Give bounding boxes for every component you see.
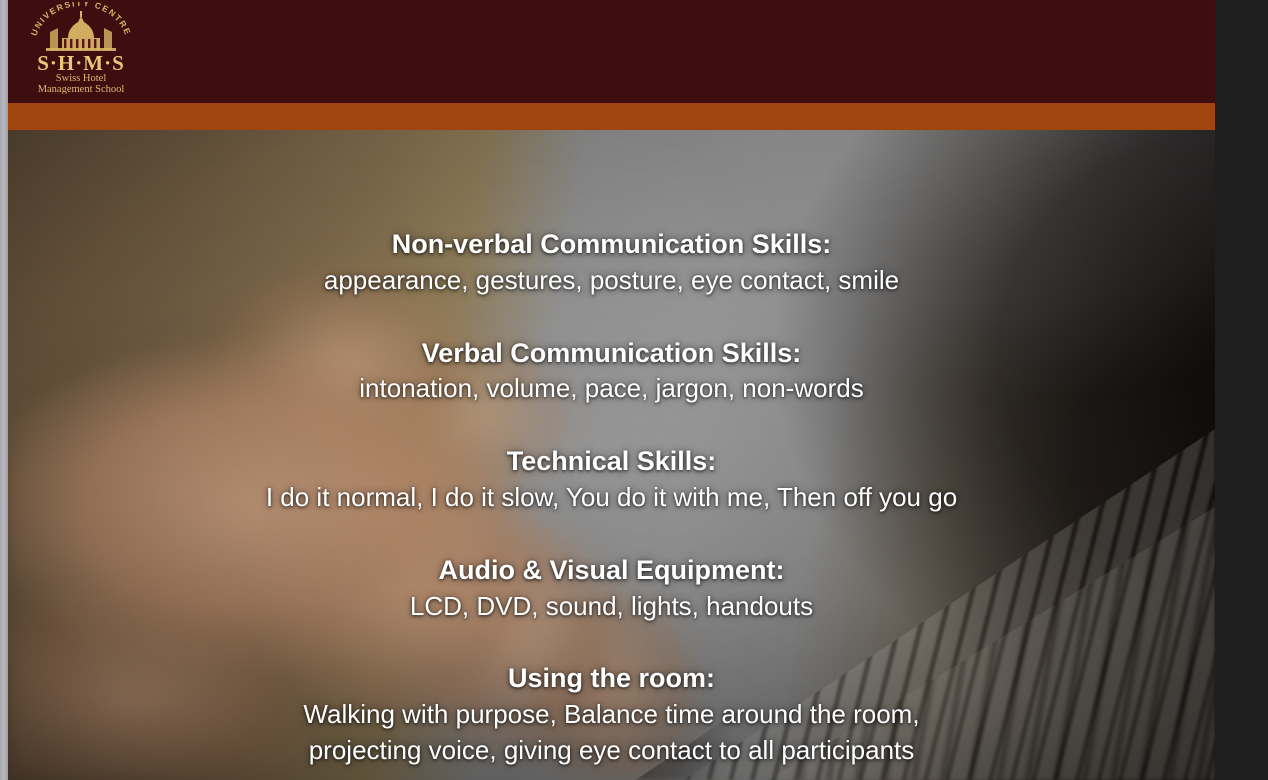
right-letterbox-gutter [1215,0,1268,780]
content-block-body: intonation, volume, pace, jargon, non-wo… [8,371,1215,407]
content-line: I do it normal, I do it slow, You do it … [8,480,1215,516]
content-line: intonation, volume, pace, jargon, non-wo… [8,371,1215,407]
logo-name-line-2: Management School [38,84,125,94]
left-edge-strip [0,0,8,780]
content-block-audio-visual: Audio & Visual Equipment: LCD, DVD, soun… [8,552,1215,625]
slide-header-accent-stripe [8,103,1215,130]
slide-header-band [8,0,1215,103]
content-block-title: Verbal Communication Skills: [8,335,1215,372]
content-block-title: Non-verbal Communication Skills: [8,226,1215,263]
content-block-title: Using the room: [8,660,1215,697]
content-block-using-the-room: Using the room: Walking with purpose, Ba… [8,660,1215,768]
content-block-verbal: Verbal Communication Skills: intonation,… [8,335,1215,408]
content-block-body: I do it normal, I do it slow, You do it … [8,480,1215,516]
logo-emblem-icon [46,11,116,51]
presentation-slide: ALWAYS PRACTICE UNIVERSITY CENTRE [8,0,1215,780]
content-block-technical: Technical Skills: I do it normal, I do i… [8,443,1215,516]
content-block-nonverbal: Non-verbal Communication Skills: appeara… [8,226,1215,299]
content-block-body: LCD, DVD, sound, lights, handouts [8,589,1215,625]
content-line: appearance, gestures, posture, eye conta… [8,263,1215,299]
shms-logo: UNIVERSITY CENTRE [22,2,140,94]
content-block-body: Walking with purpose, Balance time aroun… [8,697,1215,769]
content-line: projecting voice, giving eye contact to … [8,733,1215,769]
content-line: Walking with purpose, Balance time aroun… [8,697,1215,733]
slide-viewer: ALWAYS PRACTICE UNIVERSITY CENTRE [0,0,1268,780]
content-line: LCD, DVD, sound, lights, handouts [8,589,1215,625]
content-block-body: appearance, gestures, posture, eye conta… [8,263,1215,299]
logo-name-line-1: Swiss Hotel [56,73,107,84]
content-block-title: Audio & Visual Equipment: [8,552,1215,589]
content-block-title: Technical Skills: [8,443,1215,480]
slide-body-content: Non-verbal Communication Skills: appeara… [8,130,1215,780]
logo-acronym: S·H·M·S [37,51,125,75]
